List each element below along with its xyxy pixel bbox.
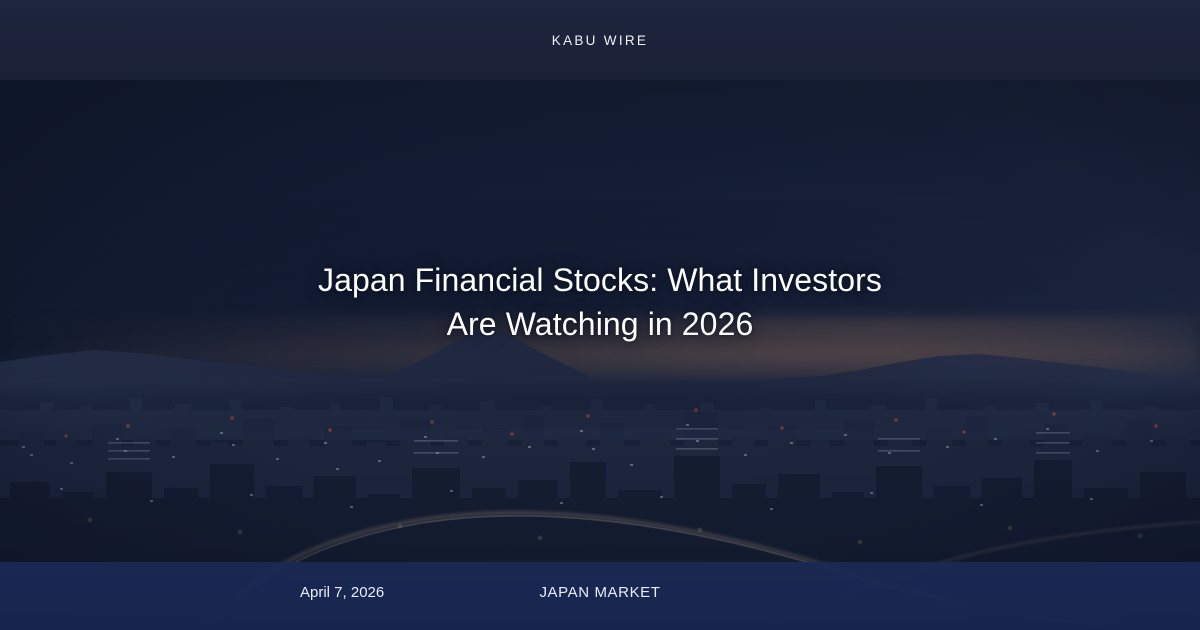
social-share-card: KABU WIRE xyxy=(0,0,1200,630)
footer-meta-bar: April 7, 2026 JAPAN MARKET xyxy=(0,562,1200,630)
publish-date: April 7, 2026 xyxy=(300,584,384,601)
category-label[interactable]: JAPAN MARKET xyxy=(539,584,660,601)
article-title: Japan Financial Stocks: What Investors A… xyxy=(0,258,1200,346)
article-title-line-1: Japan Financial Stocks: What Investors xyxy=(140,258,1060,302)
site-brand-logo[interactable]: KABU WIRE xyxy=(552,33,648,48)
site-header: KABU WIRE xyxy=(0,0,1200,80)
hero-background-image xyxy=(0,80,1200,630)
article-title-line-2: Are Watching in 2026 xyxy=(140,302,1060,346)
category-label-wrapper: JAPAN MARKET xyxy=(0,584,1200,601)
